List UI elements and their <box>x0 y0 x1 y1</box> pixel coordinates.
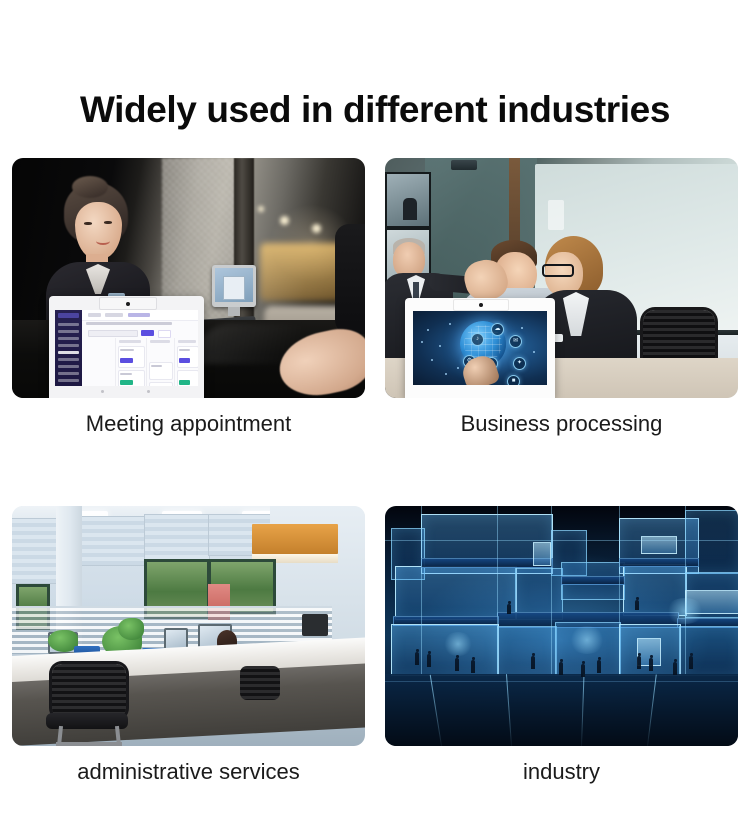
person-silhouette <box>581 664 585 677</box>
window-blind <box>80 516 146 566</box>
potted-plant <box>118 618 144 640</box>
eyeglasses <box>542 264 574 277</box>
monitor-window <box>223 276 245 300</box>
ceiling-lamp <box>312 224 321 233</box>
sidebar-item[interactable] <box>58 337 79 340</box>
person-silhouette <box>649 658 653 671</box>
tablet-camera-bar <box>453 299 509 311</box>
column-header <box>150 340 170 343</box>
network-node <box>431 359 433 361</box>
waiting-chair <box>240 666 280 700</box>
person-silhouette <box>415 652 419 665</box>
booking-title <box>151 365 162 367</box>
network-node <box>421 341 423 343</box>
person-silhouette <box>427 654 431 667</box>
booking-status-chip <box>120 358 133 363</box>
card-caption-administrative-services: administrative services <box>12 757 365 787</box>
booking-status-chip <box>179 358 190 363</box>
booking-status-chip <box>120 380 133 385</box>
desktop-monitor <box>212 265 256 307</box>
app-tab-selected[interactable] <box>128 313 150 317</box>
page-title: Widely used in different industries <box>0 88 750 132</box>
industry-card-meeting-appointment[interactable]: Meeting appointment <box>12 158 365 439</box>
tablet-bezel-bottom <box>49 386 204 398</box>
industry-photo[interactable] <box>385 506 738 746</box>
sidebar-item[interactable] <box>58 379 79 382</box>
desk-monitor <box>302 614 328 636</box>
booking-status-chip <box>179 380 190 385</box>
tablet-bezel-bottom <box>405 385 555 398</box>
network-node <box>457 367 459 369</box>
industry-card-industry[interactable]: industry <box>385 506 738 787</box>
signage-display <box>533 542 551 566</box>
mail-icon: ✉ <box>509 335 522 348</box>
sidebar-item[interactable] <box>58 365 79 368</box>
person-silhouette <box>597 660 601 673</box>
structure-line <box>497 506 498 674</box>
video-conference-screen <box>385 172 431 228</box>
card-caption-industry: industry <box>385 757 738 787</box>
meeting-appointment-photo[interactable] <box>12 158 365 398</box>
receptionist-face <box>75 202 122 259</box>
structure-line <box>619 506 620 674</box>
person-silhouette <box>471 660 475 673</box>
sidebar-item[interactable] <box>58 330 79 333</box>
chair-base <box>56 742 122 746</box>
tablet-camera-bar <box>99 297 157 310</box>
industry-card-administrative-services[interactable]: administrative services <box>12 506 365 787</box>
booking-title <box>179 349 190 351</box>
app-top-bar <box>82 310 198 321</box>
person-silhouette <box>673 662 677 675</box>
person-silhouette <box>531 656 535 669</box>
column-divider <box>115 338 116 386</box>
receptionist-eye <box>104 221 112 224</box>
sidebar-item[interactable] <box>58 323 79 326</box>
structure-line <box>421 506 422 674</box>
structure-line <box>385 540 738 541</box>
app-tab[interactable] <box>105 313 123 317</box>
sidebar-item[interactable] <box>58 344 79 347</box>
sidebar-item-active[interactable] <box>58 351 79 354</box>
guest-arm <box>335 224 365 334</box>
booking-app-sidebar[interactable] <box>55 310 82 386</box>
column-header <box>119 340 141 343</box>
wireframe-room <box>679 626 738 676</box>
sidebar-item[interactable] <box>58 358 79 361</box>
person-silhouette <box>455 658 459 671</box>
floor-line <box>385 681 738 682</box>
network-node <box>445 373 447 375</box>
cloud-icon: ☁ <box>491 323 504 336</box>
card-caption-business-processing: Business processing <box>385 409 738 439</box>
wireframe-room <box>497 626 557 676</box>
person-silhouette <box>559 662 563 675</box>
monitor-screen <box>166 630 186 648</box>
booking-title <box>120 349 134 351</box>
meeting-room-tablet-device[interactable]: ♪ ☁ ✉ ⚙ ◉ ✦ ☐ ■ <box>405 298 555 398</box>
card-caption-meeting-appointment: Meeting appointment <box>12 409 365 439</box>
wall-plate <box>548 200 564 230</box>
tablet-nav-dot[interactable] <box>147 390 150 393</box>
ceiling-lamp <box>258 206 264 212</box>
orange-soffit <box>252 524 338 554</box>
sidebar-item[interactable] <box>58 372 79 375</box>
wall-tablet-device[interactable] <box>49 296 204 398</box>
person-silhouette <box>507 604 511 614</box>
light-glow <box>443 632 473 656</box>
person-silhouette <box>635 600 639 610</box>
reflective-floor <box>385 674 738 746</box>
star-icon: ✦ <box>513 357 526 370</box>
industry-card-business-processing[interactable]: ♪ ☁ ✉ ⚙ ◉ ✦ ☐ ■ Business processing <box>385 158 738 439</box>
light-glow <box>569 626 605 654</box>
network-node <box>427 329 429 331</box>
column-divider <box>174 338 175 386</box>
column-header <box>178 340 196 343</box>
visitor-chair-back <box>52 664 126 718</box>
app-tab[interactable] <box>88 313 101 317</box>
monitor-stand <box>228 307 240 316</box>
secondary-action-button[interactable] <box>158 330 171 338</box>
receptionist-eye <box>84 222 92 225</box>
mezzanine-slab <box>619 558 699 567</box>
light-glow <box>665 598 705 624</box>
date-filter-input[interactable] <box>88 330 138 337</box>
ceiling-lamp <box>280 216 289 225</box>
booking-title <box>120 373 132 375</box>
app-breadcrumb <box>86 322 172 325</box>
tablet-nav-dot[interactable] <box>101 390 104 393</box>
network-node <box>439 345 441 347</box>
monitor-screen <box>215 268 253 302</box>
network-node <box>521 327 523 329</box>
music-icon: ♪ <box>471 333 484 346</box>
ceiling-projector <box>451 160 477 170</box>
business-processing-photo[interactable]: ♪ ☁ ✉ ⚙ ◉ ✦ ☐ ■ <box>385 158 738 398</box>
receptionist-hair-bun <box>72 176 108 198</box>
window-blind <box>12 518 58 584</box>
receptionist-smile <box>96 237 110 245</box>
person-silhouette <box>689 656 693 669</box>
signage-display <box>641 536 677 554</box>
tablet-screen[interactable]: ♪ ☁ ✉ ⚙ ◉ ✦ ☐ ■ <box>413 311 547 385</box>
tablet-screen[interactable] <box>55 310 198 386</box>
window-blind <box>144 514 210 560</box>
administrative-services-photo[interactable] <box>12 506 365 746</box>
mezzanine-slab <box>561 576 625 585</box>
app-logo <box>58 313 79 318</box>
column-divider <box>146 338 147 386</box>
camera-icon: ■ <box>507 375 520 385</box>
industries-showcase-page: Widely used in different industries <box>0 0 750 816</box>
network-node <box>533 351 535 353</box>
industry-card-grid: Meeting appointment <box>12 158 738 787</box>
person-silhouette <box>637 656 641 669</box>
network-node <box>449 323 451 325</box>
structure-line <box>551 506 552 674</box>
primary-action-button[interactable] <box>141 330 154 336</box>
